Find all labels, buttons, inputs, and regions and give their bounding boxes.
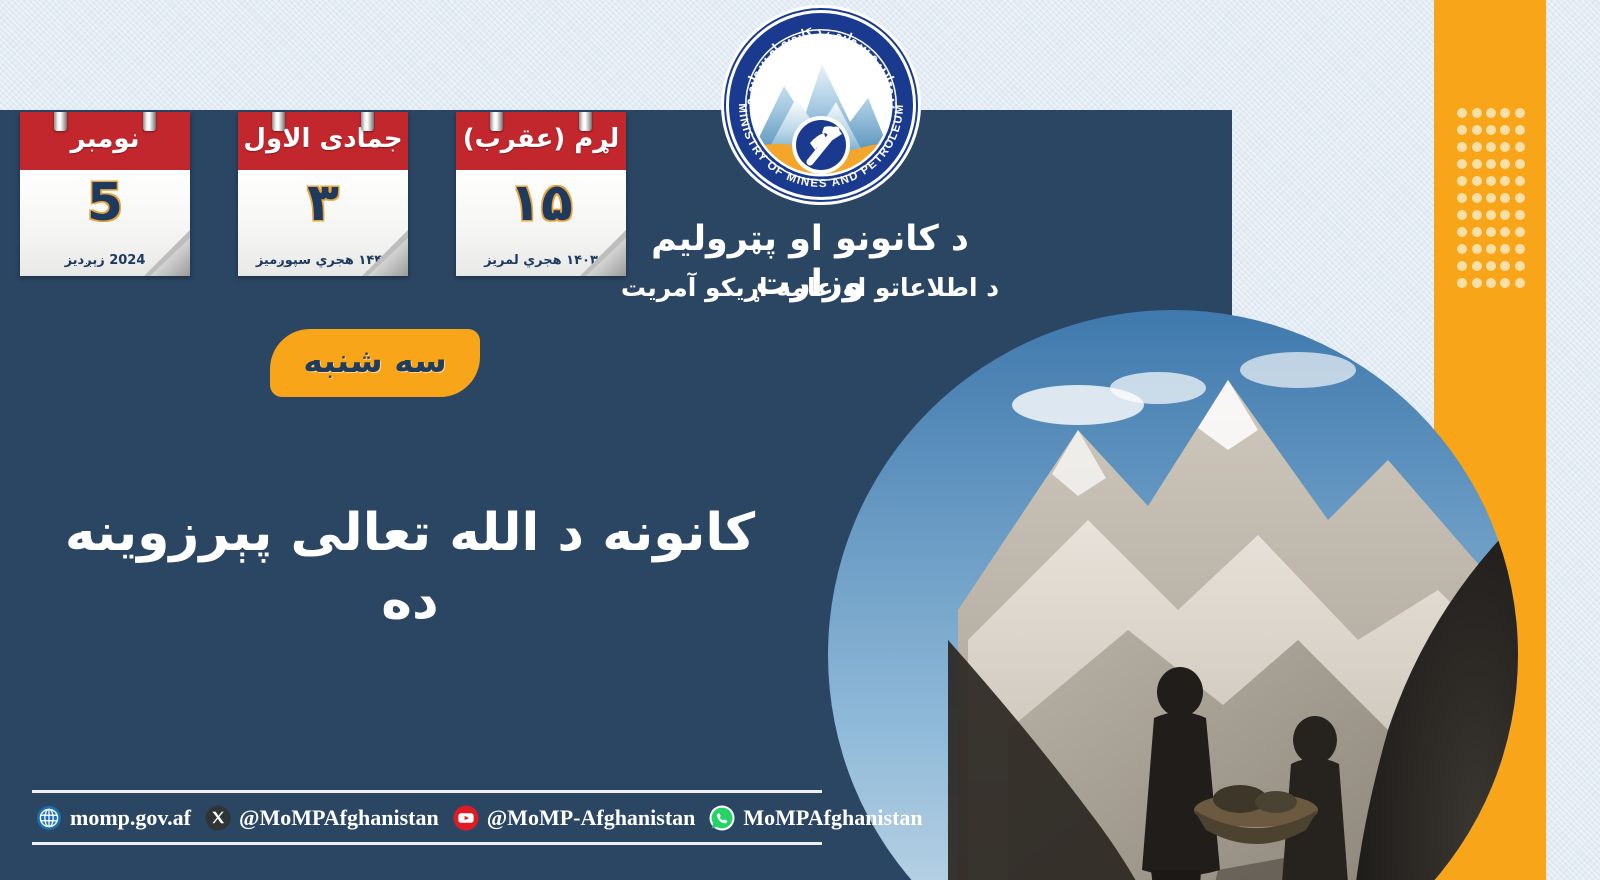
page-curl-decoration (362, 230, 408, 276)
poster-canvas: نومبر 5 2024 زېږدیز جمادی الاول ۳ ۱۴۴۶ ه… (0, 0, 1600, 880)
social-link-x[interactable]: @MoMPAfghanistan (205, 805, 439, 831)
footer-top-rule (32, 790, 822, 793)
headline-text: کانونه د الله تعالی پېرزوینه ده (40, 500, 780, 635)
footer-bottom-rule (32, 842, 822, 845)
social-link-youtube[interactable]: @MoMP-Afghanistan (453, 805, 696, 831)
calendar-ring-right (361, 112, 374, 131)
calendar-day-number: ۳ (238, 176, 408, 231)
weekday-badge: سه شنبه (270, 329, 480, 397)
pickaxe-icon (792, 116, 850, 174)
calendar-card-gregorian: نومبر 5 2024 زېږدیز (20, 112, 190, 276)
page-curl-decoration (144, 230, 190, 276)
social-link-whatsapp[interactable]: MoMPAfghanistan (709, 805, 922, 831)
social-label-whatsapp: MoMPAfghanistan (743, 805, 922, 831)
calendar-ring-left (490, 112, 503, 131)
ministry-logo: MINISTRY OF MINES AND PETROLEUM وزارت مع… (718, 2, 924, 208)
calendar-ring-right (143, 112, 156, 131)
calendar-ring-right (579, 112, 592, 131)
calendar-month-label: لړم (عقرب) (463, 126, 620, 156)
dot-grid-decoration (1455, 104, 1527, 291)
social-link-website[interactable]: momp.gov.af (36, 805, 191, 831)
calendar-body: 5 2024 زېږدیز (20, 170, 190, 276)
calendar-day-number: 5 (20, 176, 190, 231)
calendar-strip: نومبر 5 2024 زېږدیز جمادی الاول ۳ ۱۴۴۶ ه… (20, 112, 626, 276)
mine-photo-illustration (828, 310, 1518, 880)
calendar-card-hijri-lunar: جمادی الاول ۳ ۱۴۴۶ هجري سپوږمیز (238, 112, 408, 276)
social-label-x: @MoMPAfghanistan (239, 805, 439, 831)
footer: momp.gov.af @MoMPAfghanistan @MoMP-Afgha… (32, 790, 822, 845)
calendar-header: جمادی الاول (238, 112, 408, 170)
social-label-youtube: @MoMP-Afghanistan (487, 805, 696, 831)
calendar-ring-left (272, 112, 285, 131)
x-twitter-icon (205, 805, 231, 831)
calendar-header: نومبر (20, 112, 190, 170)
globe-icon (36, 805, 62, 831)
department-subtitle: د اطلاعاتو او عامه اړیکو آمریت (600, 272, 1020, 303)
youtube-icon (453, 805, 479, 831)
weekday-label: سه شنبه (303, 344, 446, 382)
whatsapp-icon (709, 805, 735, 831)
mine-photo (828, 310, 1518, 880)
calendar-ring-left (54, 112, 67, 131)
calendar-month-label: نومبر (71, 126, 140, 156)
calendar-header: لړم (عقرب) (456, 112, 626, 170)
calendar-month-label: جمادی الاول (243, 126, 402, 156)
social-label-website: momp.gov.af (70, 805, 191, 831)
calendar-body: ۳ ۱۴۴۶ هجري سپوږمیز (238, 170, 408, 276)
social-links-row: momp.gov.af @MoMPAfghanistan @MoMP-Afgha… (32, 793, 822, 842)
